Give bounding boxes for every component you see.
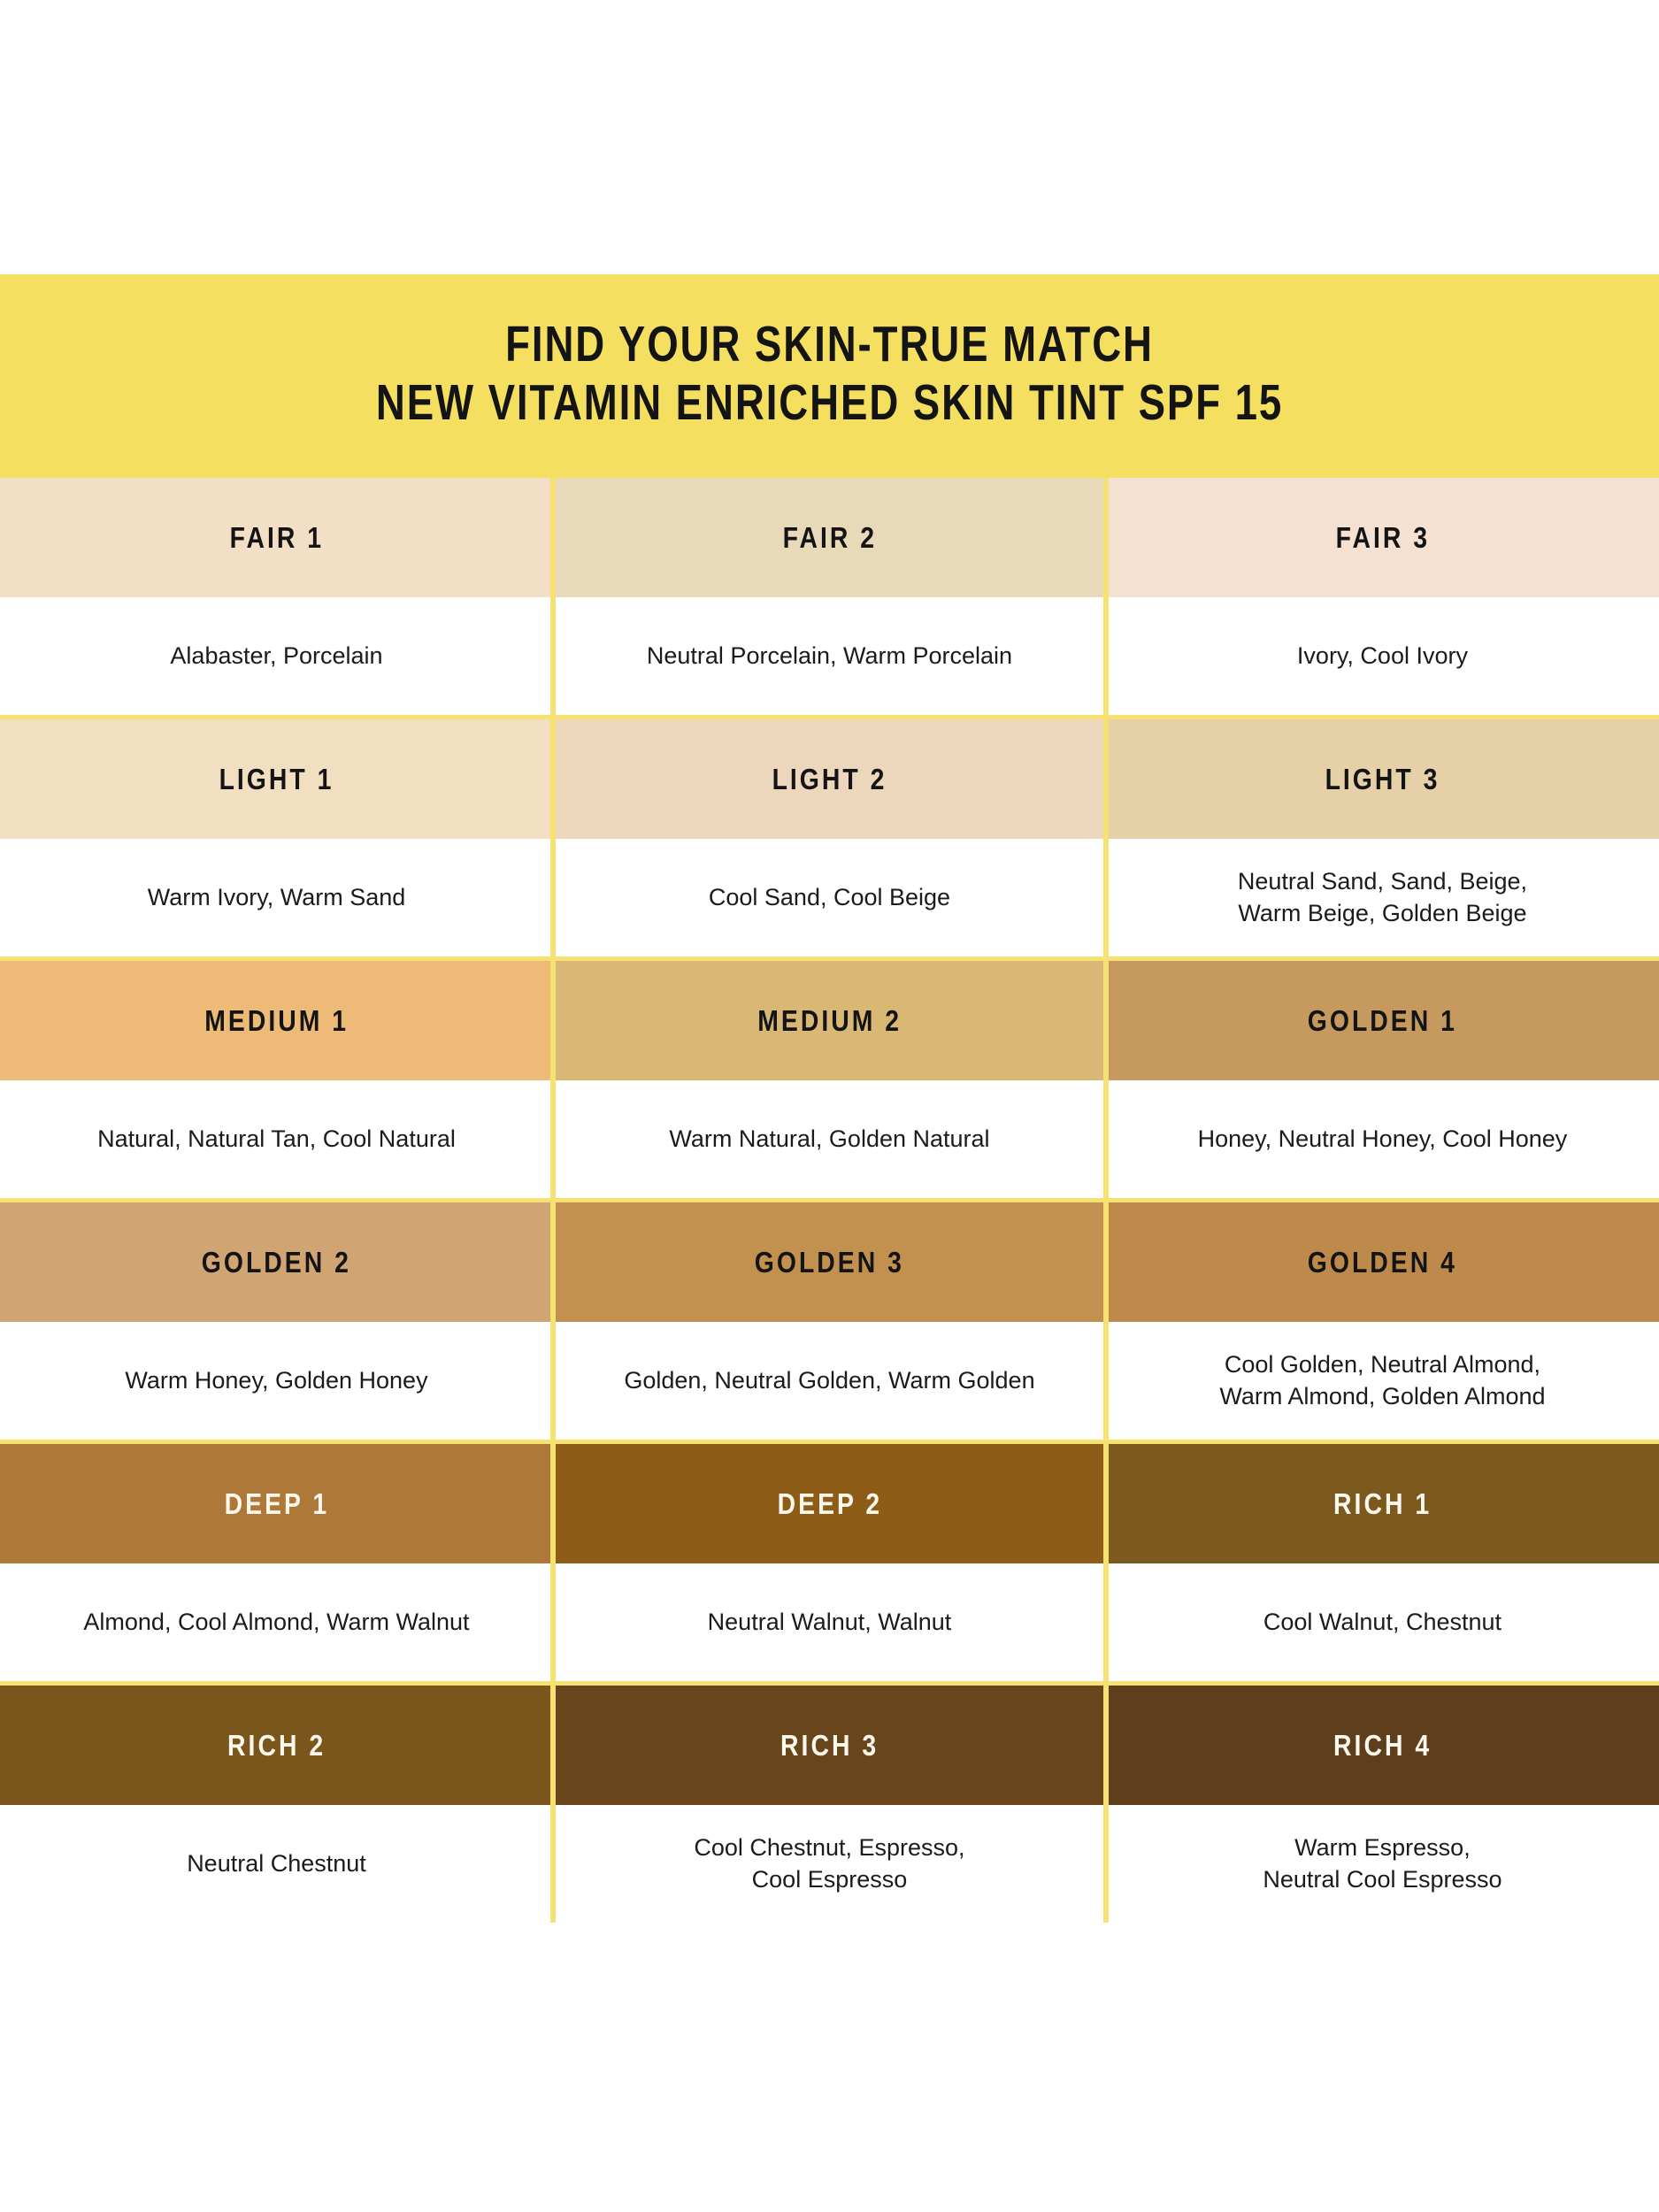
shade-names: Golden, Neutral Golden, Warm Golden [599,1365,1059,1397]
shade-names: Neutral Sand, Sand, Beige,Warm Beige, Go… [1213,866,1552,929]
shade-name-band: Warm Ivory, Warm SandCool Sand, Cool Bei… [0,839,1659,956]
shade-names-cell[interactable]: Cool Golden, Neutral Almond,Warm Almond,… [1106,1322,1659,1440]
shade-names-cell[interactable]: Alabaster, Porcelain [0,597,553,715]
shade-label: DEEP 1 [224,1487,329,1521]
shade-label: GOLDEN 3 [755,1246,904,1279]
shade-label: RICH 1 [1333,1487,1432,1521]
shade-label: RICH 4 [1333,1729,1432,1763]
shade-names-cell[interactable]: Natural, Natural Tan, Cool Natural [0,1080,553,1198]
shade-names: Warm Espresso,Neutral Cool Espresso [1238,1832,1526,1895]
shade-label: MEDIUM 2 [757,1004,902,1038]
swatch-cell[interactable]: RICH 2 [0,1686,553,1805]
shade-name-band: Almond, Cool Almond, Warm WalnutNeutral … [0,1563,1659,1681]
shade-label: FAIR 1 [229,521,323,555]
shade-label: MEDIUM 1 [204,1004,349,1038]
shade-names: Natural, Natural Tan, Cool Natural [73,1124,480,1156]
shade-row: DEEP 1DEEP 2RICH 1Almond, Cool Almond, W… [0,1440,1659,1681]
swatch-cell[interactable]: MEDIUM 2 [553,961,1106,1080]
shade-names-cell[interactable]: Cool Sand, Cool Beige [553,839,1106,956]
banner-line-2: NEW VITAMIN ENRICHED SKIN TINT SPF 15 [166,373,1494,432]
shade-row: LIGHT 1LIGHT 2LIGHT 3Warm Ivory, Warm Sa… [0,715,1659,956]
shade-row: GOLDEN 2GOLDEN 3GOLDEN 4Warm Honey, Gold… [0,1198,1659,1440]
shade-label: GOLDEN 4 [1308,1246,1457,1279]
shade-names: Cool Golden, Neutral Almond,Warm Almond,… [1194,1349,1570,1412]
shade-row: RICH 2RICH 3RICH 4Neutral ChestnutCool C… [0,1681,1659,1923]
swatch-cell[interactable]: RICH 4 [1106,1686,1659,1805]
swatch-cell[interactable]: GOLDEN 2 [0,1202,553,1322]
shade-names: Neutral Walnut, Walnut [683,1607,977,1639]
swatch-cell[interactable]: MEDIUM 1 [0,961,553,1080]
swatch-cell[interactable]: DEEP 1 [0,1444,553,1563]
shade-label: RICH 3 [780,1729,879,1763]
shade-name-band: Alabaster, PorcelainNeutral Porcelain, W… [0,597,1659,715]
swatch-band: LIGHT 1LIGHT 2LIGHT 3 [0,719,1659,839]
shade-names: Alabaster, Porcelain [145,641,407,672]
swatch-cell[interactable]: LIGHT 2 [553,719,1106,839]
shade-name-band: Warm Honey, Golden HoneyGolden, Neutral … [0,1322,1659,1440]
swatch-band: GOLDEN 2GOLDEN 3GOLDEN 4 [0,1202,1659,1322]
swatch-cell[interactable]: RICH 1 [1106,1444,1659,1563]
shade-label: LIGHT 1 [219,763,334,796]
top-whitespace [0,0,1659,274]
shade-row: FAIR 1FAIR 2FAIR 3Alabaster, PorcelainNe… [0,478,1659,715]
shade-match-table: FAIR 1FAIR 2FAIR 3Alabaster, PorcelainNe… [0,478,1659,1923]
shade-names-cell[interactable]: Neutral Walnut, Walnut [553,1563,1106,1681]
shade-label: DEEP 2 [777,1487,882,1521]
swatch-cell[interactable]: FAIR 3 [1106,478,1659,597]
swatch-cell[interactable]: LIGHT 3 [1106,719,1659,839]
swatch-cell[interactable]: FAIR 2 [553,478,1106,597]
shade-names-cell[interactable]: Warm Honey, Golden Honey [0,1322,553,1440]
swatch-cell[interactable]: LIGHT 1 [0,719,553,839]
shade-names: Cool Chestnut, Espresso,Cool Espresso [669,1832,989,1895]
swatch-band: MEDIUM 1MEDIUM 2GOLDEN 1 [0,961,1659,1080]
shade-label: GOLDEN 2 [202,1246,351,1279]
shade-names-cell[interactable]: Neutral Sand, Sand, Beige,Warm Beige, Go… [1106,839,1659,956]
swatch-cell[interactable]: GOLDEN 1 [1106,961,1659,1080]
shade-names: Cool Walnut, Chestnut [1239,1607,1526,1639]
shade-names: Warm Honey, Golden Honey [100,1365,452,1397]
shade-names: Cool Sand, Cool Beige [684,882,975,914]
shade-names-cell[interactable]: Golden, Neutral Golden, Warm Golden [553,1322,1106,1440]
shade-names-cell[interactable]: Neutral Porcelain, Warm Porcelain [553,597,1106,715]
banner-line-1: FIND YOUR SKIN-TRUE MATCH [166,315,1494,373]
swatch-cell[interactable]: RICH 3 [553,1686,1106,1805]
swatch-band: RICH 2RICH 3RICH 4 [0,1686,1659,1805]
title-banner: FIND YOUR SKIN-TRUE MATCH NEW VITAMIN EN… [0,274,1659,478]
shade-names: Neutral Chestnut [162,1848,391,1880]
shade-names-cell[interactable]: Cool Chestnut, Espresso,Cool Espresso [553,1805,1106,1923]
shade-row: MEDIUM 1MEDIUM 2GOLDEN 1Natural, Natural… [0,956,1659,1198]
shade-names-cell[interactable]: Ivory, Cool Ivory [1106,597,1659,715]
swatch-cell[interactable]: GOLDEN 4 [1106,1202,1659,1322]
shade-label: RICH 2 [227,1729,326,1763]
swatch-cell[interactable]: FAIR 1 [0,478,553,597]
shade-label: GOLDEN 1 [1308,1004,1457,1038]
shade-name-band: Natural, Natural Tan, Cool NaturalWarm N… [0,1080,1659,1198]
shade-label: FAIR 3 [1335,521,1429,555]
shade-names: Almond, Cool Almond, Warm Walnut [58,1607,494,1639]
shade-names-cell[interactable]: Warm Espresso,Neutral Cool Espresso [1106,1805,1659,1923]
shade-names-cell[interactable]: Warm Natural, Golden Natural [553,1080,1106,1198]
shade-names-cell[interactable]: Warm Ivory, Warm Sand [0,839,553,956]
shade-label: LIGHT 2 [772,763,887,796]
shade-names-cell[interactable]: Almond, Cool Almond, Warm Walnut [0,1563,553,1681]
shade-names: Ivory, Cool Ivory [1272,641,1493,672]
shade-finder-page: FIND YOUR SKIN-TRUE MATCH NEW VITAMIN EN… [0,0,1659,2212]
swatch-cell[interactable]: DEEP 2 [553,1444,1106,1563]
shade-names: Neutral Porcelain, Warm Porcelain [622,641,1037,672]
swatch-band: FAIR 1FAIR 2FAIR 3 [0,478,1659,597]
shade-names: Warm Ivory, Warm Sand [123,882,431,914]
shade-names: Honey, Neutral Honey, Cool Honey [1173,1124,1593,1156]
shade-names-cell[interactable]: Cool Walnut, Chestnut [1106,1563,1659,1681]
shade-label: LIGHT 3 [1325,763,1440,796]
shade-names: Warm Natural, Golden Natural [644,1124,1014,1156]
swatch-cell[interactable]: GOLDEN 3 [553,1202,1106,1322]
shade-names-cell[interactable]: Neutral Chestnut [0,1805,553,1923]
shade-label: FAIR 2 [782,521,876,555]
swatch-band: DEEP 1DEEP 2RICH 1 [0,1444,1659,1563]
shade-name-band: Neutral ChestnutCool Chestnut, Espresso,… [0,1805,1659,1923]
shade-names-cell[interactable]: Honey, Neutral Honey, Cool Honey [1106,1080,1659,1198]
